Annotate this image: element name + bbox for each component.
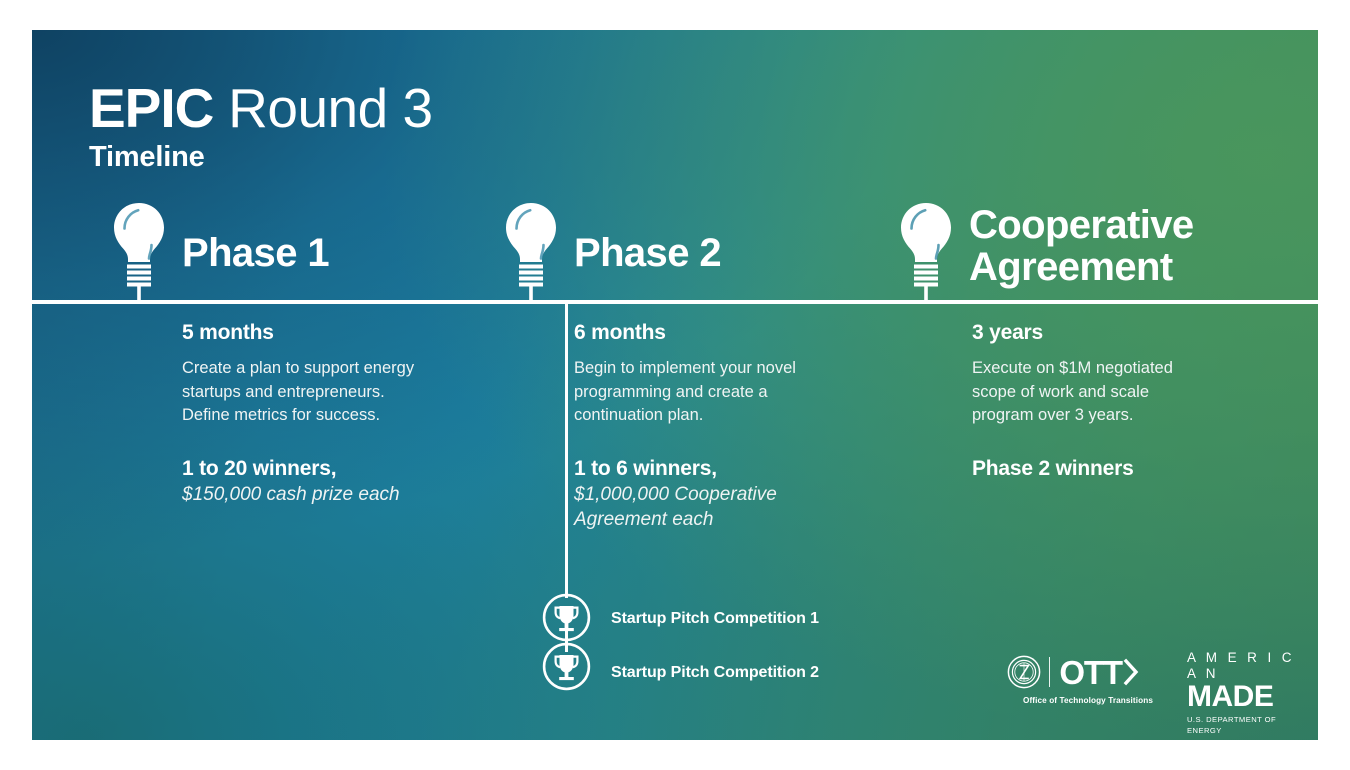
title-block: EPIC Round 3 Timeline bbox=[89, 78, 433, 174]
phase-winners: Phase 2 winners bbox=[972, 456, 1272, 482]
milestone-label: Startup Pitch Competition 2 bbox=[611, 664, 819, 682]
ott-wordmark: OTT bbox=[1059, 656, 1121, 689]
lightbulb-icon bbox=[897, 200, 955, 304]
phase-heading: Cooperative Agreement bbox=[969, 204, 1194, 288]
page-title: EPIC Round 3 bbox=[89, 78, 433, 138]
lightbulb-icon bbox=[502, 200, 560, 304]
milestone-label: Startup Pitch Competition 1 bbox=[611, 610, 819, 628]
phase-heading: Phase 1 bbox=[182, 232, 329, 274]
phase-duration: 6 months bbox=[574, 320, 874, 346]
epic-round-3-timeline-infographic: EPIC Round 3 Timeline Phase 1 5 months C… bbox=[32, 30, 1318, 740]
american-made-line-2: MADE bbox=[1187, 682, 1273, 712]
lightbulb-icon bbox=[110, 200, 168, 304]
phase-body: 6 months Begin to implement your novel p… bbox=[574, 320, 874, 532]
ott-logo: OTT Office of Technology Transitions bbox=[1007, 652, 1169, 710]
ott-caption: Office of Technology Transitions bbox=[1007, 695, 1169, 706]
phase-description: Execute on $1M negotiated scope of work … bbox=[972, 357, 1272, 428]
phase-description: Create a plan to support energy startups… bbox=[182, 357, 482, 428]
phase-body: 3 years Execute on $1M negotiated scope … bbox=[972, 320, 1272, 482]
phase-prize: $150,000 cash prize each bbox=[182, 482, 482, 507]
phase-heading: Phase 2 bbox=[574, 232, 721, 274]
phase-prize: $1,000,000 Cooperative Agreement each bbox=[574, 482, 874, 532]
title-rest: Round 3 bbox=[213, 77, 432, 139]
page-subtitle: Timeline bbox=[89, 140, 433, 174]
american-made-wordmark: MADE bbox=[1187, 682, 1309, 712]
american-made-logo: A M E R I C A N MADE U.S. DEPARTMENT OF … bbox=[1187, 650, 1309, 710]
phase-winners: 1 to 6 winners, bbox=[574, 456, 874, 482]
phase-duration: 3 years bbox=[972, 320, 1272, 346]
phase-body: 5 months Create a plan to support energy… bbox=[182, 320, 482, 507]
phase-duration: 5 months bbox=[182, 320, 482, 346]
title-brand: EPIC bbox=[89, 77, 213, 139]
phase-2-descender-line bbox=[565, 304, 568, 598]
phase-winners: 1 to 20 winners, bbox=[182, 456, 482, 482]
chevron-right-icon bbox=[1123, 657, 1140, 687]
american-made-line-1: A M E R I C A N bbox=[1187, 650, 1309, 682]
trophy-icon bbox=[542, 593, 591, 642]
doe-seal-icon bbox=[1007, 655, 1041, 689]
american-made-line-3: U.S. DEPARTMENT OF ENERGY bbox=[1187, 714, 1309, 736]
phase-description: Begin to implement your novel programmin… bbox=[574, 357, 874, 428]
trophy-icon bbox=[542, 642, 591, 691]
timeline-rule bbox=[32, 300, 1318, 304]
